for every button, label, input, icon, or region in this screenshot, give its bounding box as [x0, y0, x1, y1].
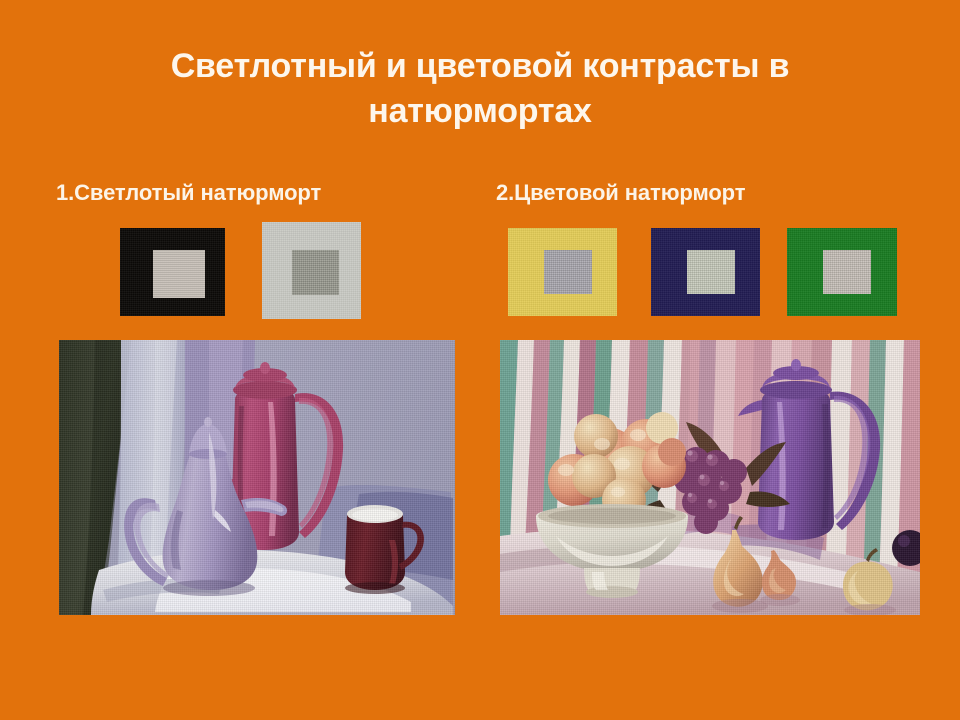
section-heading-color: 2.Цветовой натюрморт — [496, 180, 745, 206]
slide-canvas: Светлотный и цветовой контрасты в натюрм… — [0, 0, 960, 720]
gray-inner-square — [292, 250, 339, 295]
green-swatch — [787, 228, 897, 316]
gray-inner-square — [544, 250, 592, 294]
light-gray-swatch — [262, 222, 361, 319]
still-life-lightness-contrast-image — [59, 340, 455, 615]
gray-inner-square — [687, 250, 735, 294]
yellow-swatch — [508, 228, 617, 316]
page-title: Светлотный и цветовой контрасты в натюрм… — [60, 44, 900, 134]
navy-swatch — [651, 228, 760, 316]
gray-inner-square — [823, 250, 871, 294]
gray-inner-square — [153, 250, 205, 298]
black-swatch — [120, 228, 225, 316]
still-life-color-contrast-image — [500, 340, 920, 615]
section-heading-lightness: 1.Светлотый натюрморт — [56, 180, 321, 206]
